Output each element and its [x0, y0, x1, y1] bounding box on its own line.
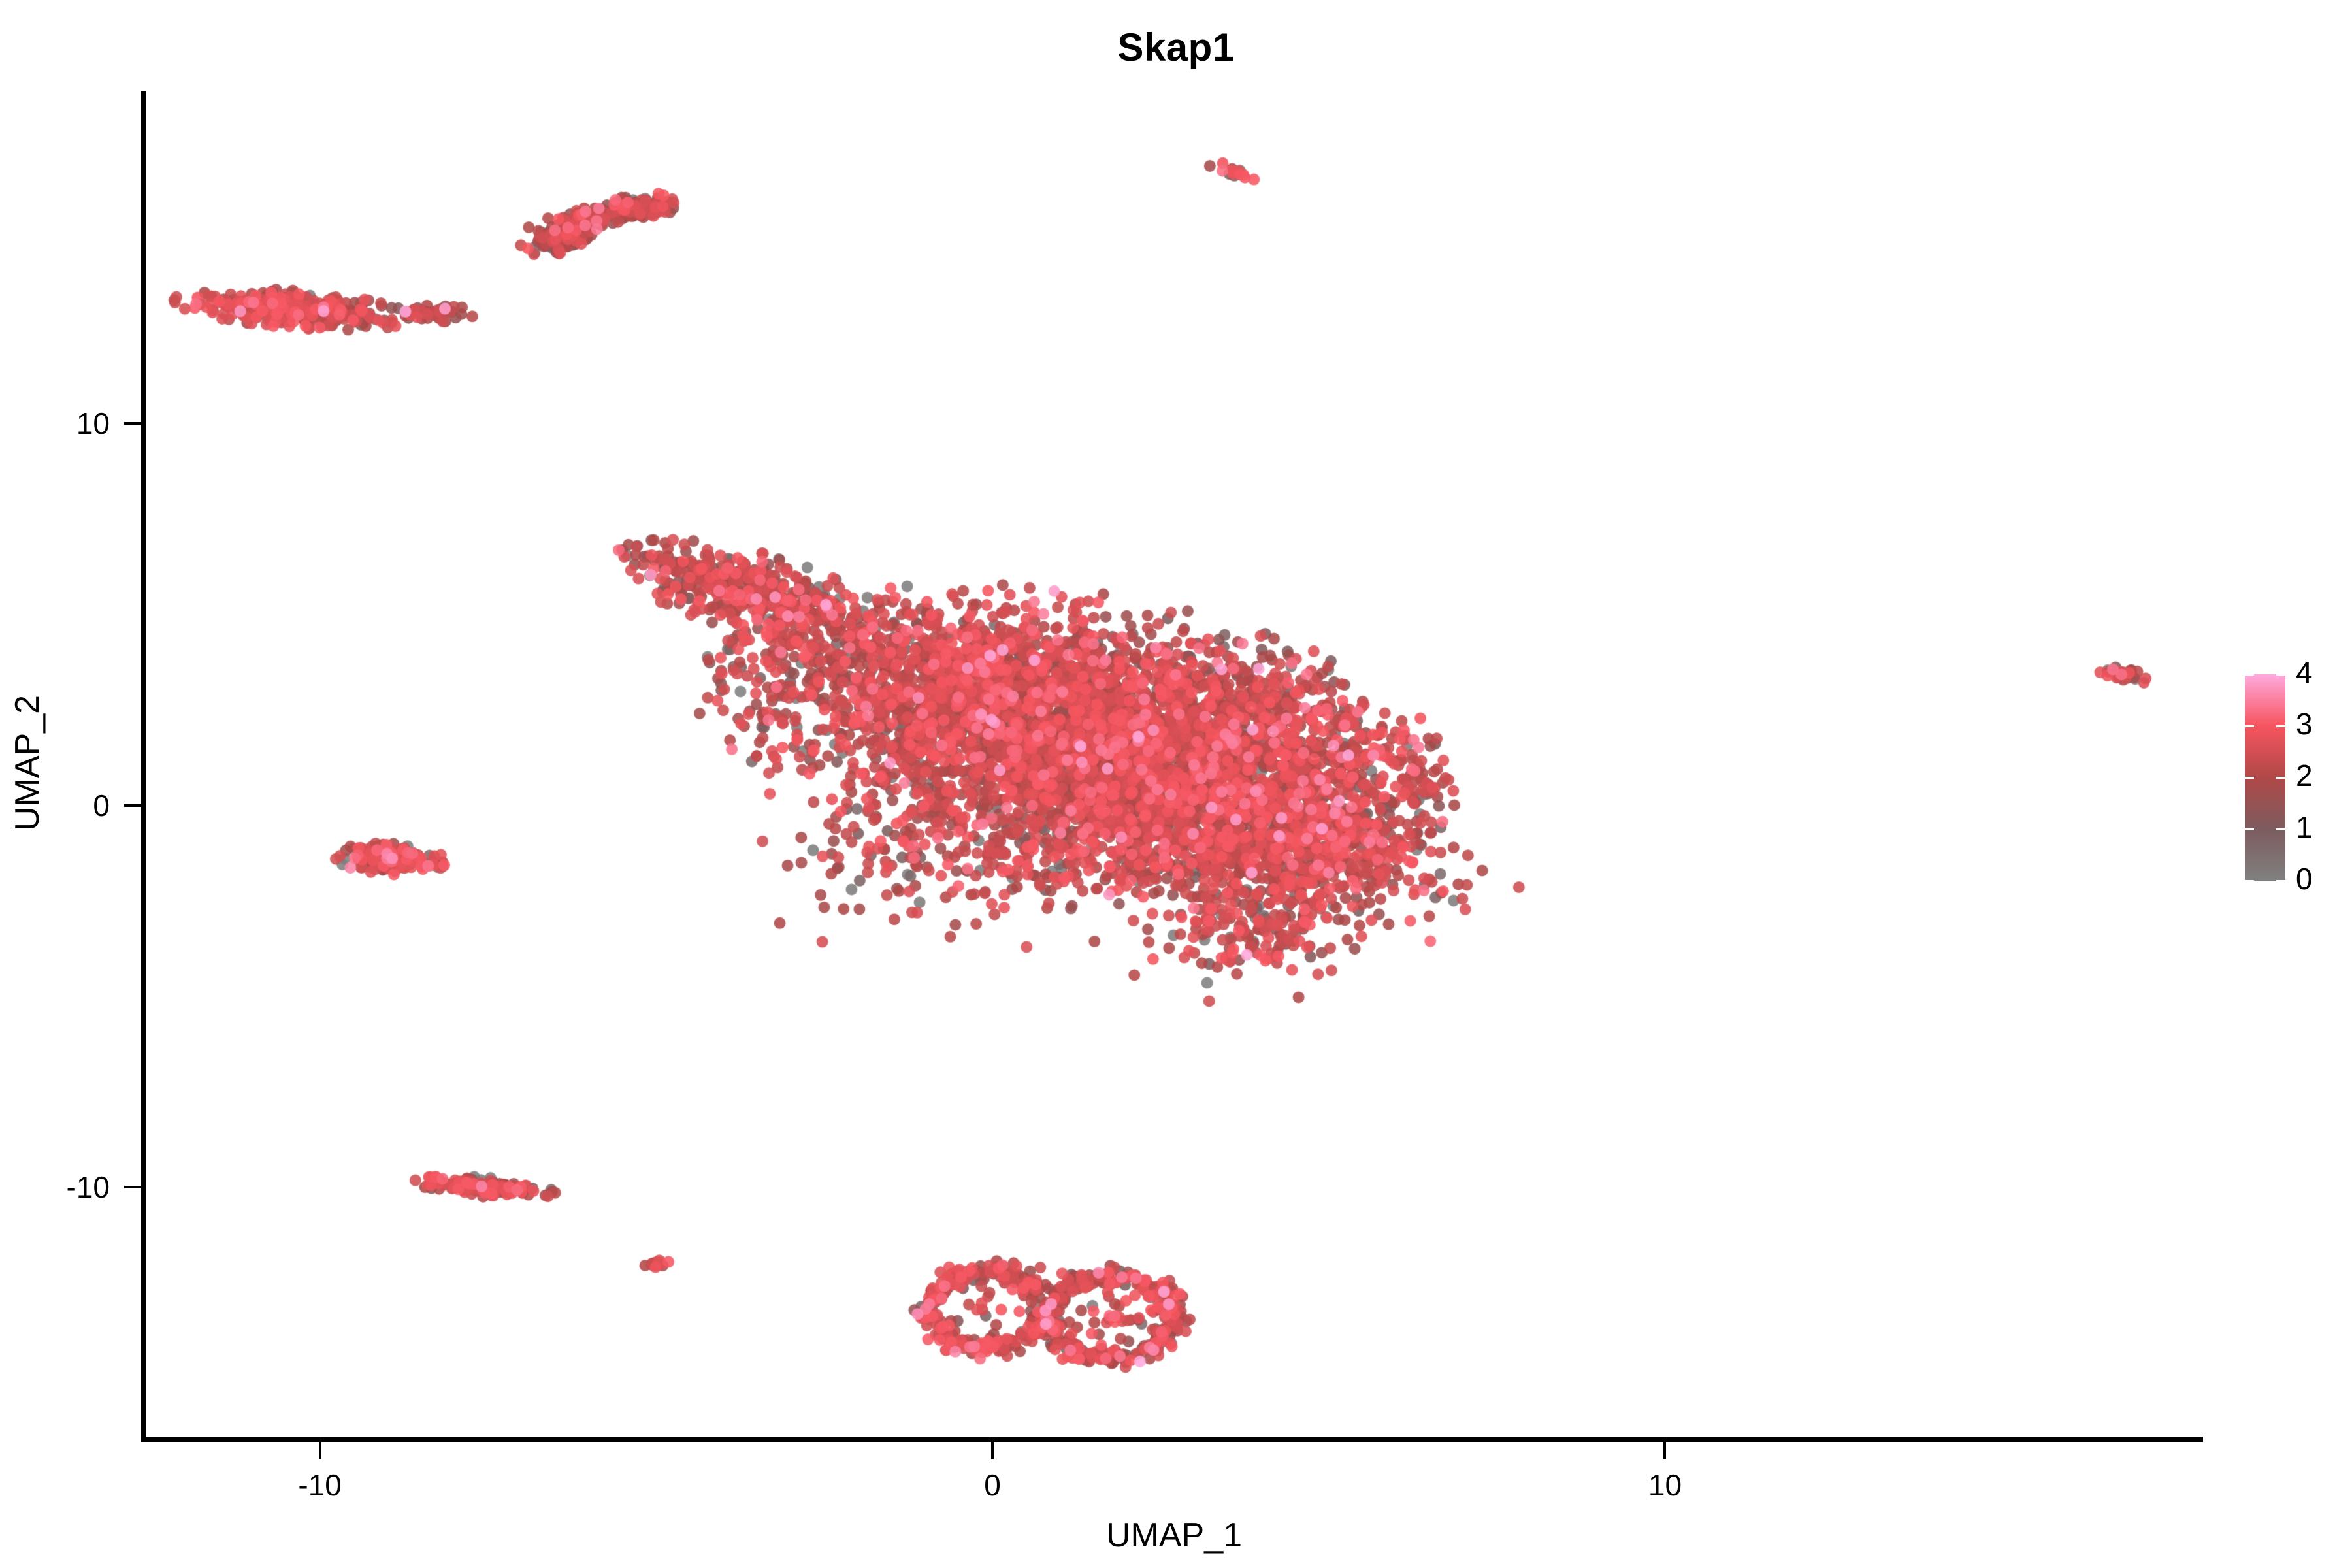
- legend-tick-label: 2: [2296, 760, 2313, 791]
- legend-tick-label: 1: [2296, 812, 2313, 842]
- legend-tick-mark: [2245, 674, 2254, 676]
- legend-tick-mark: [2276, 674, 2285, 676]
- y-tick-label: -10: [0, 1169, 110, 1205]
- legend-tick-mark: [2245, 880, 2254, 882]
- umap-feature-plot: Skap1 -10010 -10010 UMAP_1 UMAP_2 01234: [0, 0, 2352, 1568]
- legend-tick-mark: [2245, 828, 2254, 830]
- legend-tick-label: 0: [2296, 864, 2313, 894]
- y-axis-line: [141, 91, 146, 1442]
- x-axis-line: [141, 1437, 2203, 1442]
- y-tick-mark: [124, 804, 141, 807]
- legend-tick-mark: [2276, 777, 2285, 779]
- legend-tick-mark: [2276, 880, 2285, 882]
- x-tick-label: 0: [907, 1467, 1077, 1503]
- legend-tick-mark: [2276, 725, 2285, 727]
- legend-tick-mark: [2276, 828, 2285, 830]
- x-tick-mark: [319, 1442, 321, 1459]
- scatter-points-layer: [145, 91, 2203, 1439]
- color-legend: 01234: [2234, 660, 2345, 895]
- legend-tick-label: 4: [2296, 657, 2313, 687]
- y-tick-mark: [124, 422, 141, 425]
- legend-tick-mark: [2245, 725, 2254, 727]
- legend-tick-label: 3: [2296, 709, 2313, 739]
- y-axis-title: UMAP_2: [8, 502, 47, 1024]
- x-axis-title: UMAP_1: [145, 1516, 2203, 1555]
- legend-tick-mark: [2245, 777, 2254, 779]
- x-tick-mark: [1663, 1442, 1666, 1459]
- x-tick-mark: [991, 1442, 994, 1459]
- y-tick-mark: [124, 1186, 141, 1188]
- plot-panel: [145, 91, 2203, 1439]
- x-tick-label: -10: [235, 1467, 405, 1503]
- x-tick-label: 10: [1580, 1467, 1750, 1503]
- y-tick-label: 10: [0, 406, 110, 441]
- page-title: Skap1: [0, 25, 2352, 70]
